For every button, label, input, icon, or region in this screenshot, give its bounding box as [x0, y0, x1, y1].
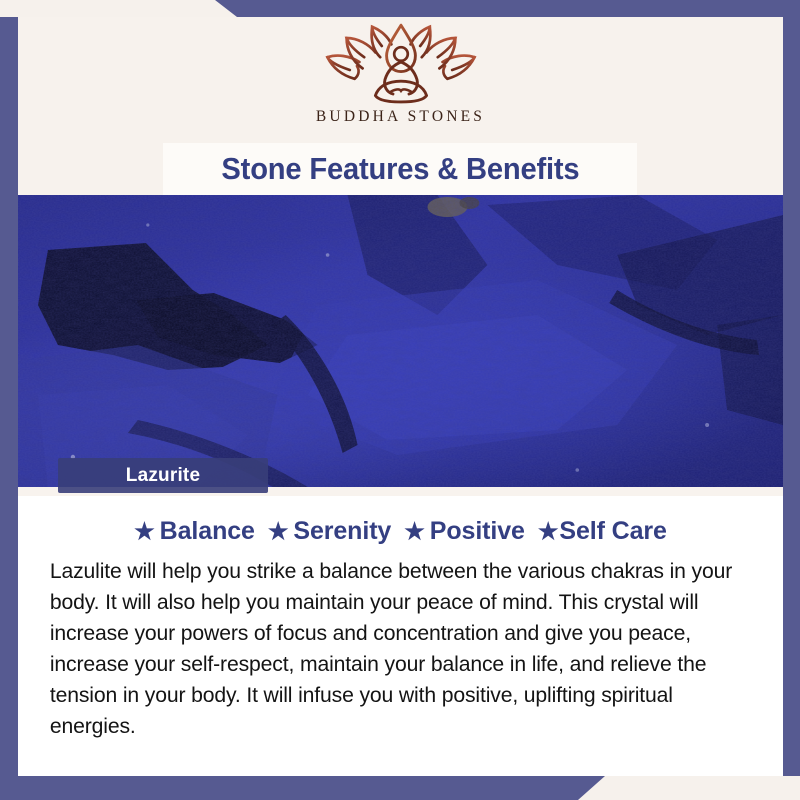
- top-border-band: [0, 0, 800, 17]
- keyword-balance: ★ Balance: [134, 517, 255, 546]
- keyword-label: Serenity: [293, 517, 391, 546]
- lazurite-stone-photo: [18, 195, 783, 487]
- bottom-border-band: [0, 776, 800, 800]
- right-border-rail: [783, 17, 800, 776]
- keyword-self-care: ★ Self Care: [538, 517, 667, 546]
- stone-description: Lazulite will help you strike a balance …: [40, 556, 750, 742]
- content-panel: ★ Balance ★ Serenity ★ Positive ★ Self C…: [18, 487, 783, 776]
- title-band: Stone Features & Benefits: [163, 143, 637, 195]
- star-icon: ★: [134, 520, 155, 543]
- brand-logo: BUDDHA STONES: [18, 17, 783, 143]
- keyword-label: Positive: [430, 517, 525, 546]
- stone-name-label: Lazurite: [126, 465, 200, 487]
- star-icon: ★: [538, 520, 559, 543]
- keyword-serenity: ★ Serenity: [268, 517, 391, 546]
- left-border-rail: [0, 17, 18, 776]
- poster-card: BUDDHA STONES Stone Features & Benefits: [18, 17, 783, 776]
- star-icon: ★: [404, 520, 425, 543]
- keyword-list: ★ Balance ★ Serenity ★ Positive ★ Self C…: [40, 517, 761, 546]
- keyword-positive: ★ Positive: [404, 517, 525, 546]
- stone-name-chip: Lazurite: [58, 458, 268, 493]
- lotus-buddha-icon: [313, 22, 489, 106]
- poster-root: BUDDHA STONES Stone Features & Benefits: [0, 0, 800, 800]
- keyword-label: Self Care: [559, 517, 667, 546]
- page-title: Stone Features & Benefits: [221, 151, 579, 187]
- brand-wordmark: BUDDHA STONES: [316, 108, 485, 126]
- keyword-label: Balance: [160, 517, 255, 546]
- star-icon: ★: [268, 520, 289, 543]
